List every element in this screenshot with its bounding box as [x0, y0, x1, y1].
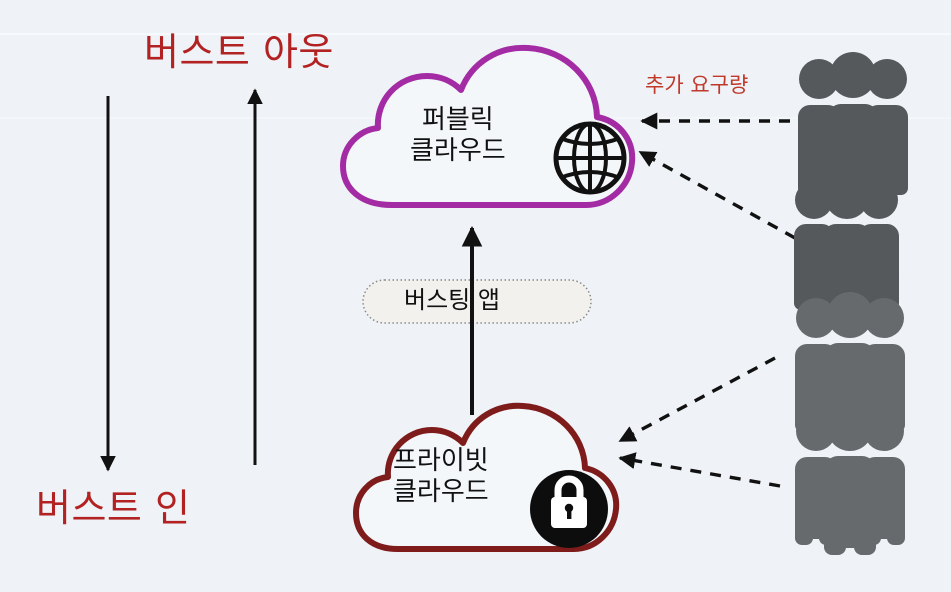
extra-demand-label: 추가 요구량 — [645, 73, 748, 97]
group4-to-private-arrow — [620, 458, 780, 486]
bursting-app-label: 버스팅 앱 — [404, 287, 500, 315]
group2-to-public-arrow — [640, 152, 795, 238]
burst-out-label: 버스트 아웃 — [144, 31, 334, 75]
public-cloud-label: 퍼블릭 클라우드 — [410, 105, 506, 166]
public-cloud-label-line1: 퍼블릭 — [410, 105, 506, 136]
user-group-4[interactable] — [795, 405, 905, 555]
group3-to-private-arrow — [620, 358, 775, 441]
private-cloud-label-line2: 클라우드 — [393, 477, 489, 508]
burst-in-label: 버스트 인 — [36, 487, 190, 531]
private-cloud-label-line1: 프라이빗 — [393, 446, 489, 477]
globe-icon — [554, 122, 626, 194]
private-cloud-label: 프라이빗 클라우드 — [393, 446, 489, 507]
public-cloud-label-line2: 클라우드 — [410, 136, 506, 167]
lock-icon — [530, 470, 608, 548]
diagram-canvas: 버스트 아웃 버스트 인 추가 요구량 퍼블릭 클라우드 프라이빗 클라우드 버… — [0, 0, 951, 592]
